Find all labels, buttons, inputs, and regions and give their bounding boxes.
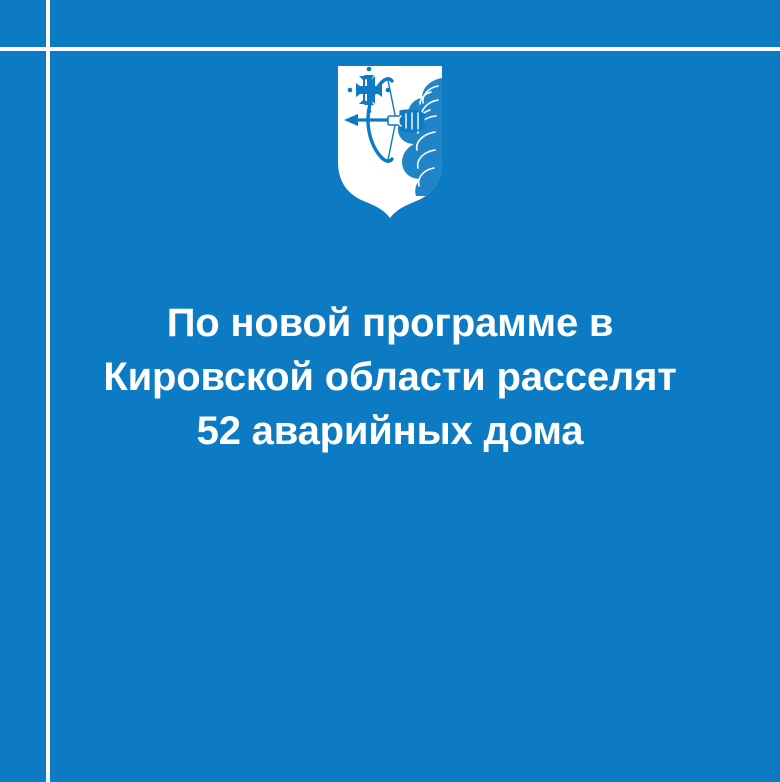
- headline-line-1: По новой программе в: [52, 296, 728, 350]
- poster-card: По новой программе в Кировской области р…: [0, 0, 780, 782]
- page-title: По новой программе в Кировской области р…: [52, 296, 728, 458]
- kirov-oblast-coat-of-arms-icon: [338, 66, 442, 218]
- headline-line-3: 52 аварийных дома: [52, 404, 728, 458]
- headline-line-2: Кировской области расселят: [52, 350, 728, 404]
- emblem-container: [0, 66, 780, 223]
- hand-from-cloud-icon: [399, 110, 424, 132]
- horizontal-rule-decoration: [0, 47, 780, 51]
